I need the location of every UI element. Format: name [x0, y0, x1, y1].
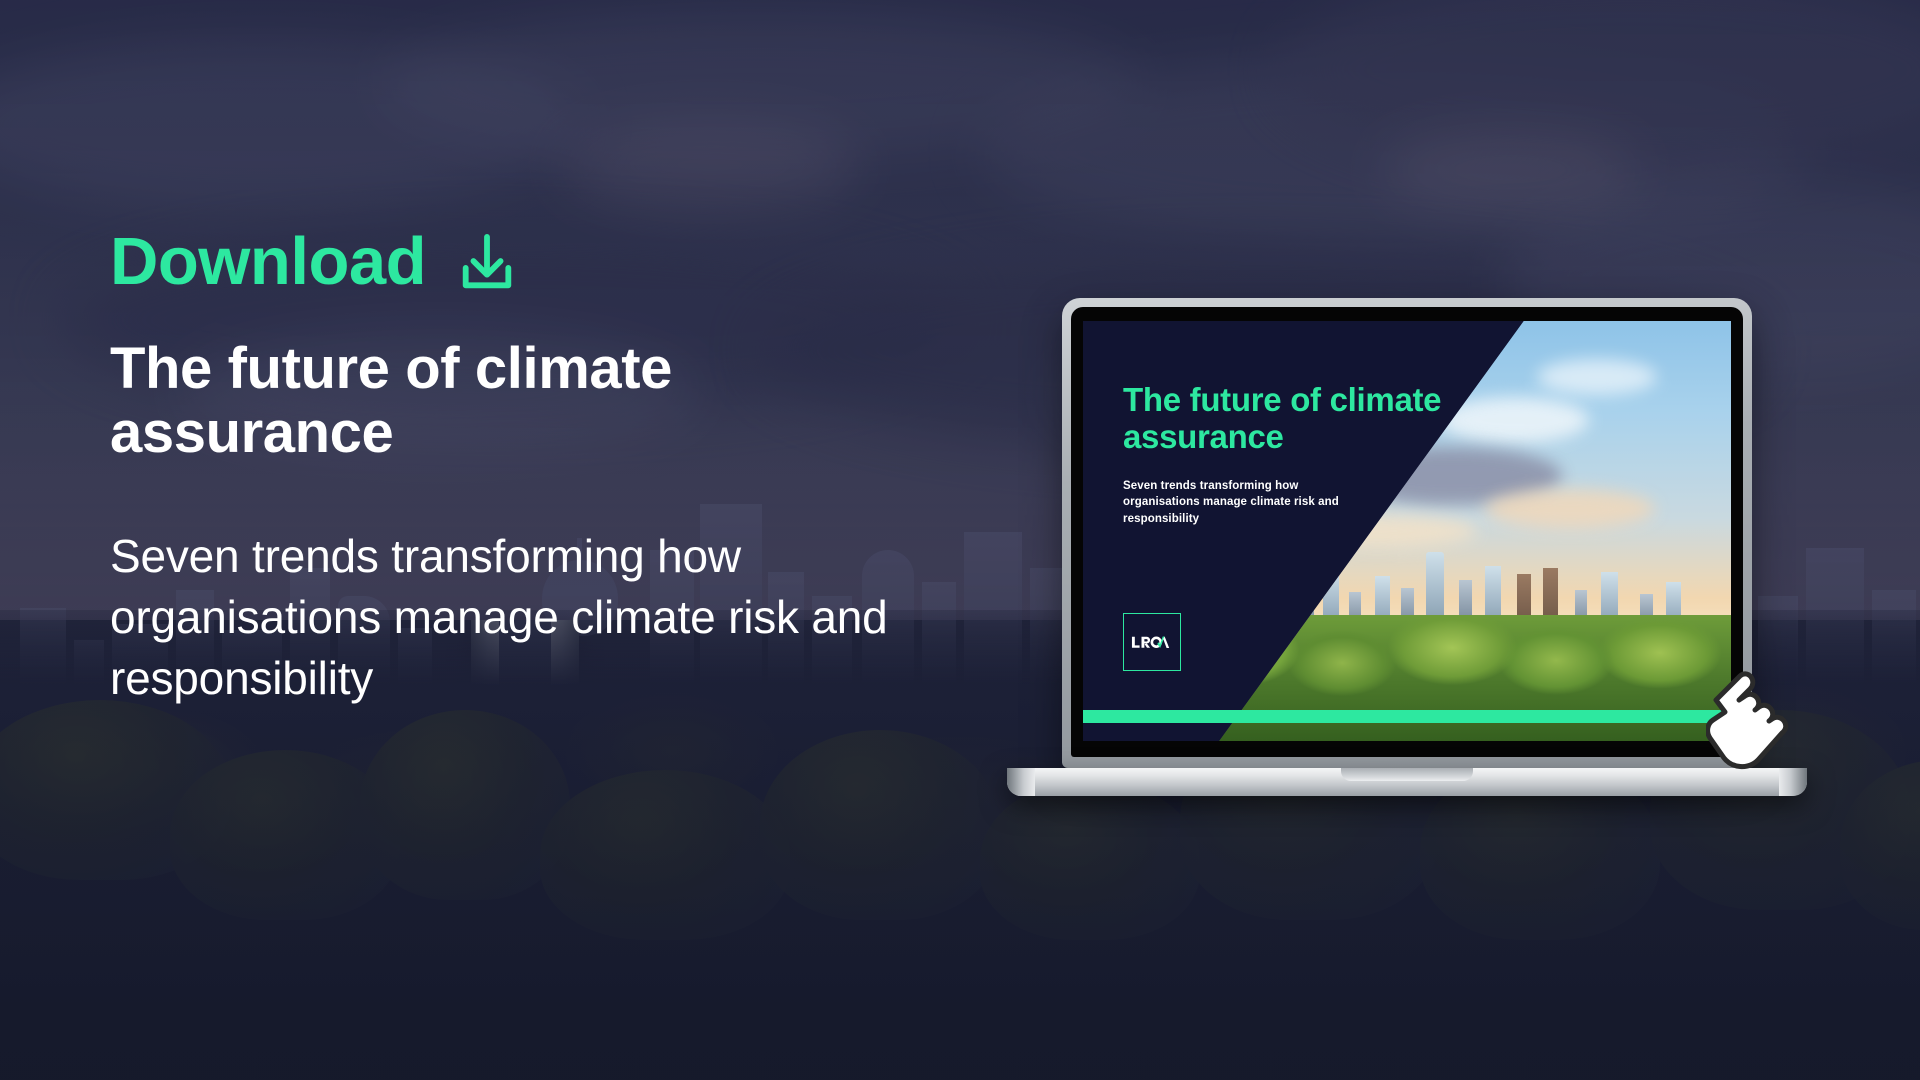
laptop-base-notch: [1341, 768, 1473, 781]
lrqa-logo-mark: [1131, 634, 1173, 650]
download-label: Download: [110, 228, 426, 295]
laptop-base: [1007, 768, 1807, 796]
hand-pointer-cursor: [1706, 656, 1810, 774]
deck-accent-bar: [1083, 710, 1731, 723]
laptop-bezel: The future of climate assurance Seven tr…: [1071, 307, 1743, 757]
download-cta[interactable]: Download: [110, 228, 1010, 295]
laptop-screen[interactable]: The future of climate assurance Seven tr…: [1083, 321, 1731, 741]
deck-text-block: The future of climate assurance Seven tr…: [1123, 381, 1453, 528]
laptop-lid: The future of climate assurance Seven tr…: [1062, 298, 1752, 768]
deck-subtitle: Seven trends transforming how organisati…: [1123, 478, 1363, 528]
promo-copy-block: Download The future of climate assurance…: [110, 228, 1010, 709]
lrqa-logo: [1123, 613, 1181, 671]
page-subtitle: Seven trends transforming how organisati…: [110, 526, 960, 710]
page-title: The future of climate assurance: [110, 337, 750, 466]
deck-title: The future of climate assurance: [1123, 381, 1453, 456]
laptop-mockup: The future of climate assurance Seven tr…: [1062, 298, 1752, 796]
download-icon[interactable]: [456, 233, 518, 295]
